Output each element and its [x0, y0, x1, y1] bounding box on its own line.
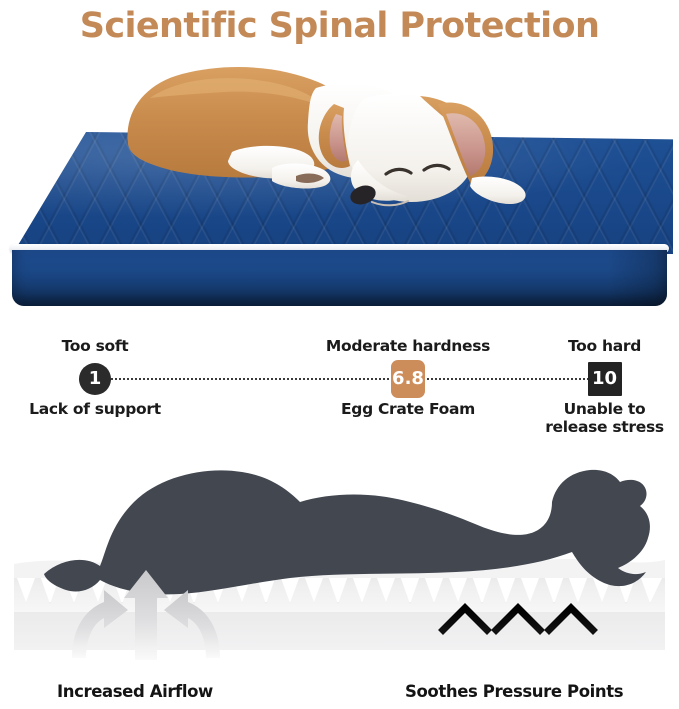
hero-product-photo: [0, 52, 679, 310]
scale-bottom-label-soft: Lack of support: [10, 401, 180, 419]
page-title-bar: Scientific Spinal Protection: [0, 0, 679, 52]
scale-badge-value-68: 6.8: [391, 360, 425, 398]
scale-level-too-soft: Too soft 1 Lack of support: [10, 338, 180, 419]
pressure-arrows-group: [443, 608, 593, 674]
scale-badge-row-soft: 1: [10, 359, 180, 399]
scale-bottom-label-hard-line2: release stress: [530, 419, 679, 437]
bed-side-panel: [12, 250, 667, 306]
scale-bottom-label-moderate: Egg Crate Foam: [306, 401, 510, 419]
scale-badge-row-moderate: 6.8: [306, 359, 510, 399]
caption-soothes-pressure-points: Soothes Pressure Points: [405, 684, 623, 701]
corgi-dog-illustration: [120, 52, 540, 242]
scale-level-too-hard: Too hard 10 Unable to release stress: [530, 338, 679, 436]
diagram-captions: Increased Airflow Soothes Pressure Point…: [0, 682, 679, 709]
page-title: Scientific Spinal Protection: [80, 9, 600, 44]
scale-badge-value-10: 10: [588, 362, 622, 396]
foam-airflow-diagram: [0, 452, 679, 684]
scale-top-label-soft: Too soft: [10, 338, 180, 356]
scale-bottom-label-hard-line1: Unable to: [530, 401, 679, 419]
scale-badge-value-1: 1: [79, 363, 111, 395]
hardness-scale: Too soft 1 Lack of support Moderate hard…: [0, 330, 679, 448]
scale-badge-row-hard: 10: [530, 359, 679, 399]
scale-level-moderate: Moderate hardness 6.8 Egg Crate Foam: [306, 338, 510, 419]
scale-top-label-hard: Too hard: [530, 338, 679, 356]
caption-increased-airflow: Increased Airflow: [57, 684, 213, 701]
scale-top-label-moderate: Moderate hardness: [306, 338, 510, 356]
